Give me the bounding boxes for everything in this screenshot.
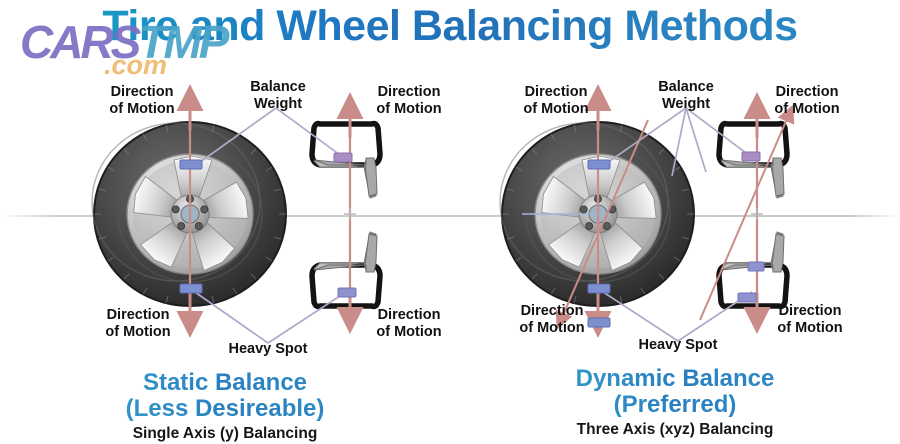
label-direction-of-motion-bottom-right: Direction of Motion: [750, 303, 870, 337]
caption-line-2: (Less Desireable): [0, 396, 450, 422]
label-direction-of-motion-bottom-left: Direction of Motion: [492, 303, 612, 337]
label-direction-of-motion-top-right: Direction of Motion: [349, 84, 469, 118]
caption-dynamic-balance: Dynamic Balance (Preferred) Three Axis (…: [450, 366, 900, 439]
label-direction-of-motion-bottom-left: Direction of Motion: [78, 307, 198, 341]
label-direction-of-motion-bottom-right: Direction of Motion: [349, 307, 469, 341]
caption-subtitle: Single Axis (y) Balancing: [0, 425, 450, 443]
caption-line-2: (Preferred): [450, 392, 900, 418]
label-balance-weight-right: Balance Weight: [626, 79, 746, 113]
label-direction-of-motion-top-left: Direction of Motion: [496, 84, 616, 118]
tire-cross-section-lower-right: [719, 232, 787, 307]
tire-cross-section-upper-right: [719, 124, 787, 199]
caption-line-1: Static Balance: [0, 370, 450, 396]
label-heavy-spot-left: Heavy Spot: [208, 341, 328, 358]
wheel-front-view-right: [500, 122, 694, 306]
static-balance-artwork: [92, 122, 380, 307]
diagram-canvas: Tire and Wheel Balancing Methods CARSTMP…: [0, 0, 900, 444]
tire-cross-section-lower-left: [312, 232, 380, 307]
caption-static-balance: Static Balance (Less Desireable) Single …: [0, 370, 450, 443]
dynamic-balance-artwork: [500, 122, 787, 307]
caption-subtitle: Three Axis (xyz) Balancing: [450, 421, 900, 439]
tire-cross-section-upper-left: [312, 124, 380, 199]
label-balance-weight-left: Balance Weight: [218, 79, 338, 113]
label-heavy-spot-right: Heavy Spot: [618, 337, 738, 354]
caption-line-1: Dynamic Balance: [450, 366, 900, 392]
wheel-front-view-left: [92, 122, 286, 306]
label-direction-of-motion-top-left: Direction of Motion: [82, 84, 202, 118]
label-direction-of-motion-top-right: Direction of Motion: [747, 84, 867, 118]
